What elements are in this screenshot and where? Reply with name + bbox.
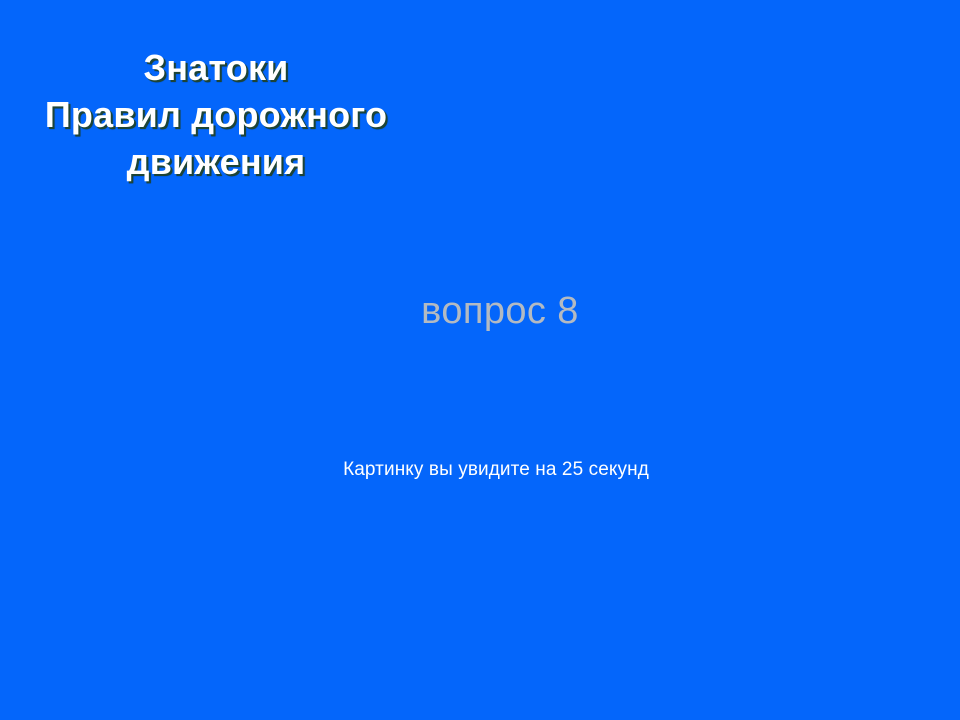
slide-title: Знатоки Правил дорожного движения — [22, 44, 410, 185]
question-label: вопрос 8 — [0, 288, 960, 334]
timing-note: Картинку вы увидите на 25 секунд — [0, 457, 960, 482]
title-line-2: Правил дорожного — [22, 91, 410, 138]
presentation-slide: Знатоки Правил дорожного движения вопрос… — [0, 0, 960, 720]
title-line-3: движения — [22, 138, 410, 185]
title-line-1: Знатоки — [22, 44, 410, 91]
